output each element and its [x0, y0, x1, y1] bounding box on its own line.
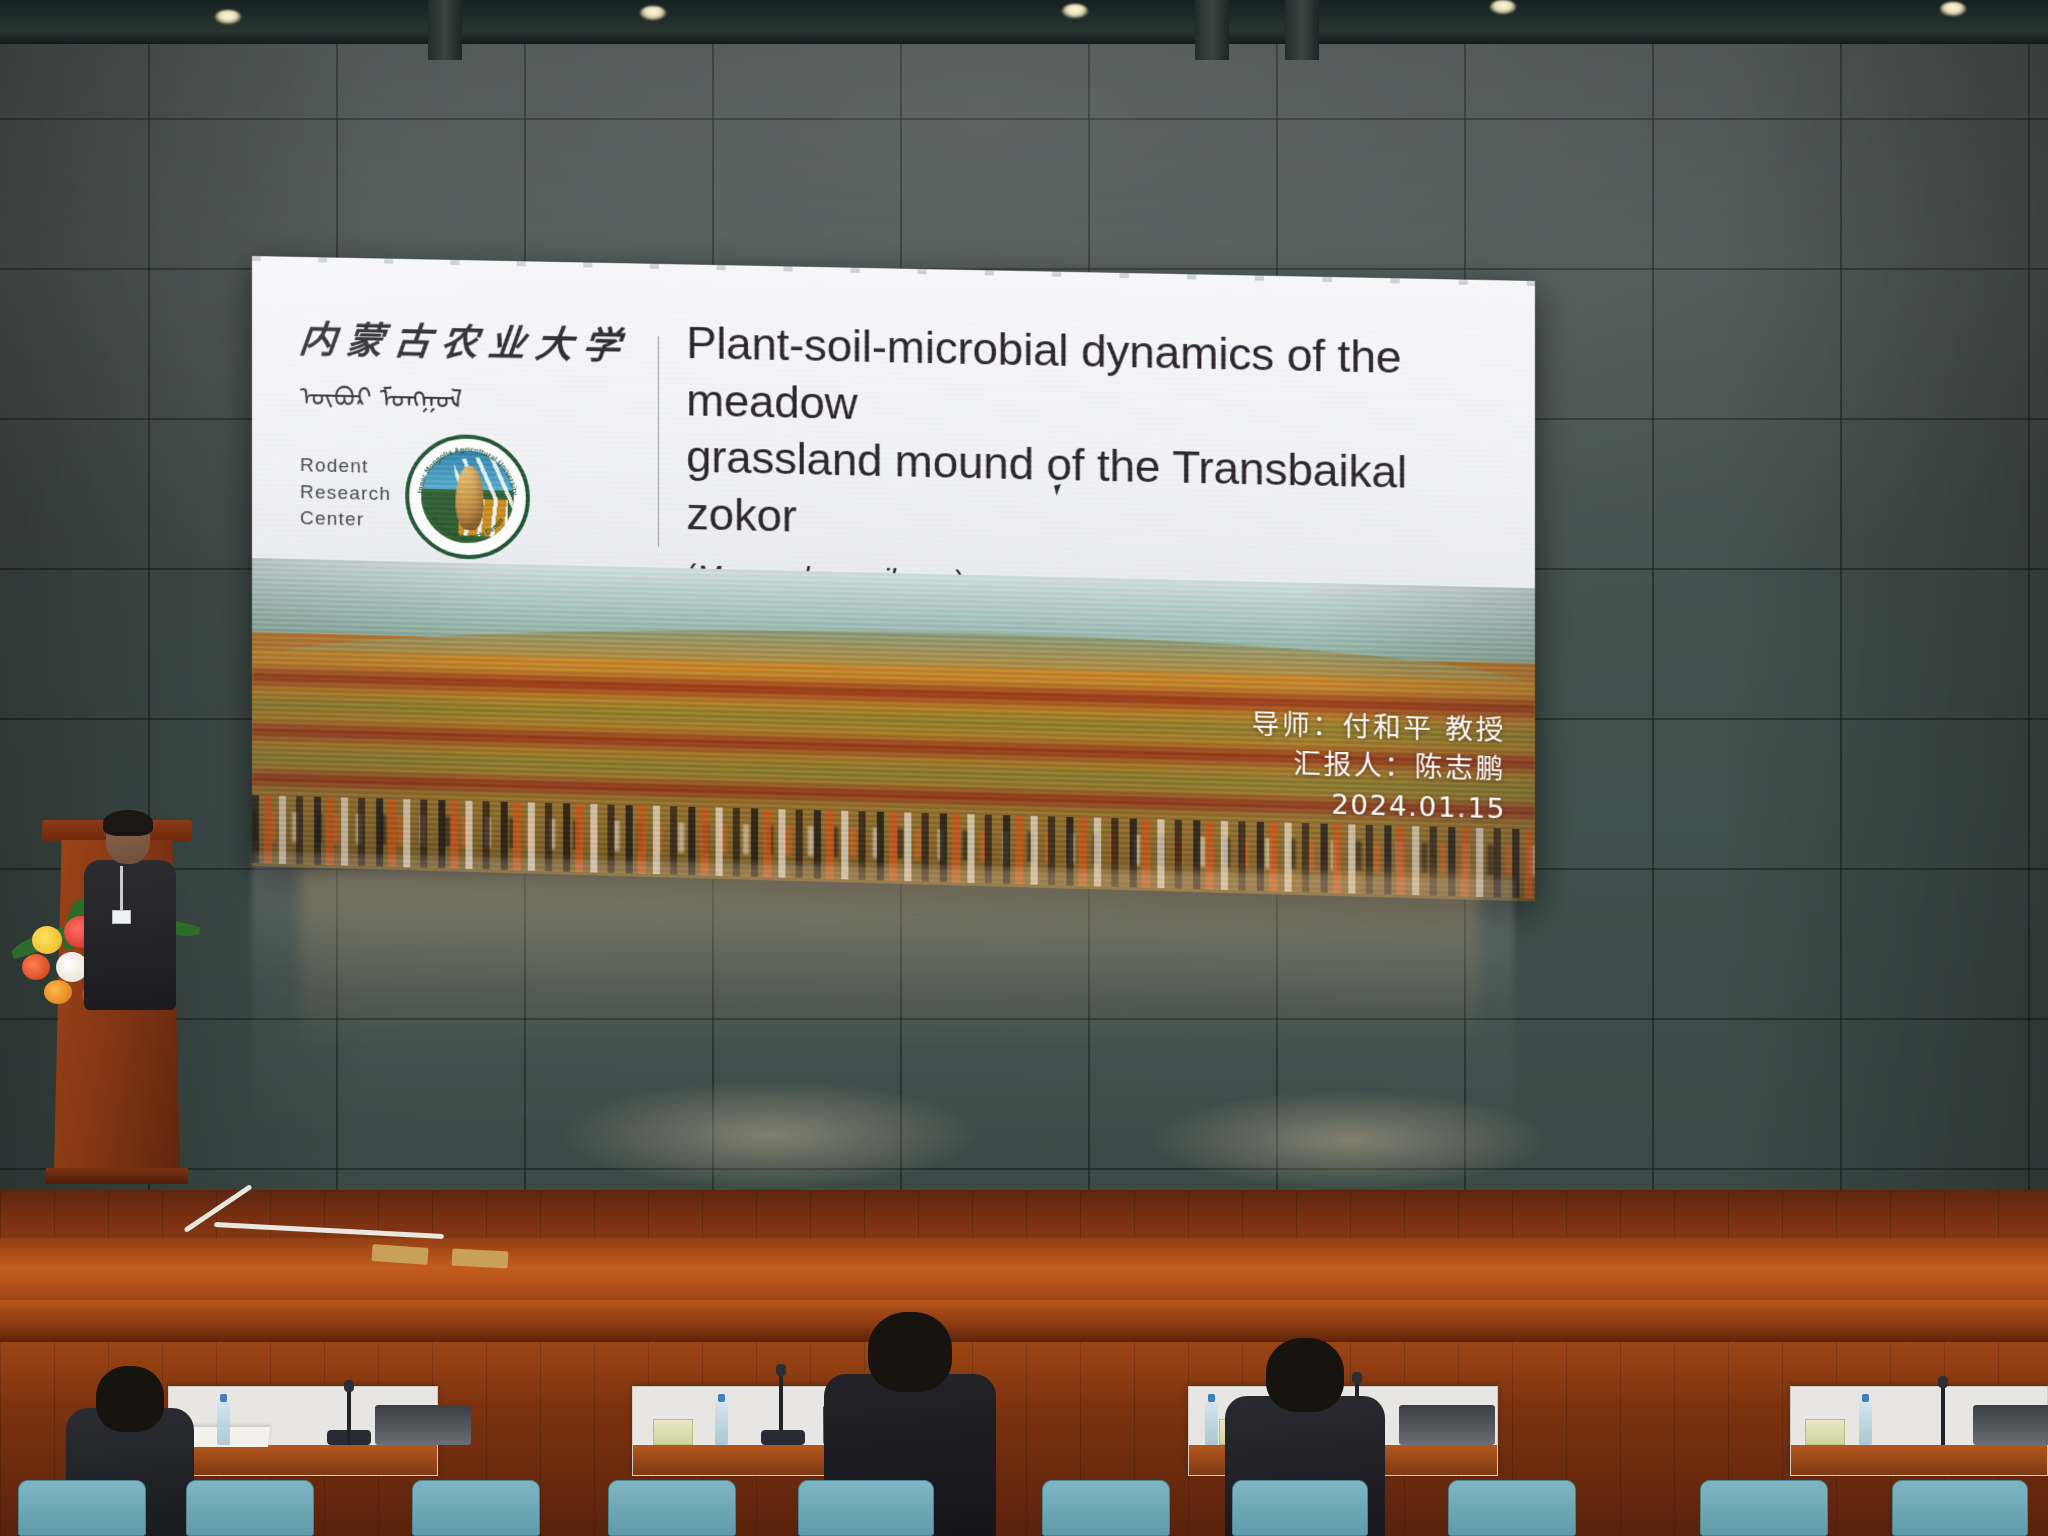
ceiling-light	[215, 10, 241, 24]
audience-chair	[18, 1480, 146, 1536]
center-line-3: Center	[300, 507, 391, 536]
name-card	[653, 1419, 693, 1445]
presentation-date: 2024.01.15	[1252, 784, 1506, 830]
stage-front-edge	[0, 1300, 2048, 1342]
ceiling-beam	[0, 30, 2048, 44]
ceiling-pillar	[1285, 0, 1319, 60]
flower	[22, 954, 50, 980]
brand-block: 内蒙古农业大学 ᠦᠪᠦᠷ ᠮᠣᠩᠭᠣᠯ Rodent Research Cent…	[300, 309, 622, 563]
water-bottle	[217, 1401, 230, 1445]
glasses-icon	[109, 832, 147, 841]
device	[1973, 1405, 2048, 1445]
rodent-research-center-emblem: Inner Mongolia Agricultural University R…	[405, 433, 530, 560]
university-name-mongolian: ᠦᠪᠦᠷ ᠮᠣᠩᠭᠣᠯ	[300, 367, 622, 420]
table-row	[1790, 1386, 2048, 1476]
university-name-chinese: 内蒙古农业大学	[297, 309, 624, 370]
table-row	[168, 1386, 438, 1476]
audience-chair	[1448, 1480, 1576, 1536]
auditorium-scene: 内蒙古农业大学 ᠦᠪᠦᠷ ᠮᠣᠩᠭᠣᠯ Rodent Research Cent…	[0, 0, 2048, 1536]
advisor-line: 导师：付和平 教授	[1252, 706, 1506, 751]
slide-content: 内蒙古农业大学 ᠦᠪᠦᠷ ᠮᠣᠩᠭᠣᠯ Rodent Research Cent…	[252, 256, 1535, 902]
water-bottle	[715, 1401, 728, 1445]
audience-chair	[1232, 1480, 1368, 1536]
ceiling-pillar	[428, 0, 462, 60]
attendee-head	[868, 1312, 952, 1392]
rodent-research-center-label: Rodent Research Center	[300, 453, 391, 536]
audience-chair	[608, 1480, 736, 1536]
title-line-2: grassland mound of the Transbaikal zokor	[686, 429, 1508, 562]
led-presentation-screen[interactable]: 内蒙古农业大学 ᠦᠪᠦᠷ ᠮᠣᠩᠭᠣᠯ Rodent Research Cent…	[252, 256, 1535, 902]
attendee-head	[96, 1366, 164, 1432]
microphone	[1941, 1385, 1945, 1445]
name-card	[1805, 1419, 1845, 1445]
credits-block: 导师：付和平 教授 汇报人：陈志鹏 2024.01.15	[1252, 706, 1506, 829]
table-front	[169, 1445, 437, 1475]
stage-apron	[0, 1238, 2048, 1304]
ceiling-light	[1490, 0, 1516, 14]
zokor-icon	[455, 465, 483, 530]
audience-chair	[186, 1480, 314, 1536]
ceiling-pillar	[1195, 0, 1229, 60]
presenter-torso	[84, 860, 176, 1010]
device	[1399, 1405, 1495, 1445]
floor-warm-reflection	[300, 870, 1480, 1050]
water-bottle	[1205, 1401, 1218, 1445]
microphone	[347, 1389, 351, 1445]
microphone-base	[761, 1430, 805, 1445]
grassland-photograph: 导师：付和平 教授 汇报人：陈志鹏 2024.01.15	[252, 558, 1535, 902]
lanyard	[120, 866, 123, 912]
audience-chair	[798, 1480, 934, 1536]
podium-base	[46, 1168, 188, 1184]
cable-tape	[452, 1249, 509, 1269]
attendee-head	[1266, 1338, 1344, 1412]
vertical-divider	[658, 336, 659, 547]
ceiling-light	[1062, 4, 1088, 18]
audience-chair	[1892, 1480, 2028, 1536]
audience-chair	[412, 1480, 540, 1536]
flower	[32, 926, 62, 954]
device	[375, 1405, 471, 1445]
name-badge	[112, 910, 131, 924]
audience-tables	[0, 1386, 2048, 1536]
flower	[44, 980, 72, 1004]
center-and-emblem-row: Rodent Research Center	[300, 431, 622, 563]
table-front	[1791, 1445, 2047, 1475]
presenter-at-podium	[78, 810, 193, 1040]
center-line-1: Rodent	[300, 453, 391, 482]
title-line-1: Plant-soil-microbial dynamics of the mea…	[686, 315, 1508, 447]
audience-chair	[1700, 1480, 1828, 1536]
ceiling-light	[1940, 2, 1966, 16]
center-line-2: Research	[300, 480, 391, 509]
presenter-line: 汇报人：陈志鹏	[1252, 745, 1506, 791]
ceiling-light	[640, 6, 666, 20]
water-bottle	[1859, 1401, 1872, 1445]
audience-chair	[1042, 1480, 1170, 1536]
emblem-artwork	[421, 450, 513, 544]
